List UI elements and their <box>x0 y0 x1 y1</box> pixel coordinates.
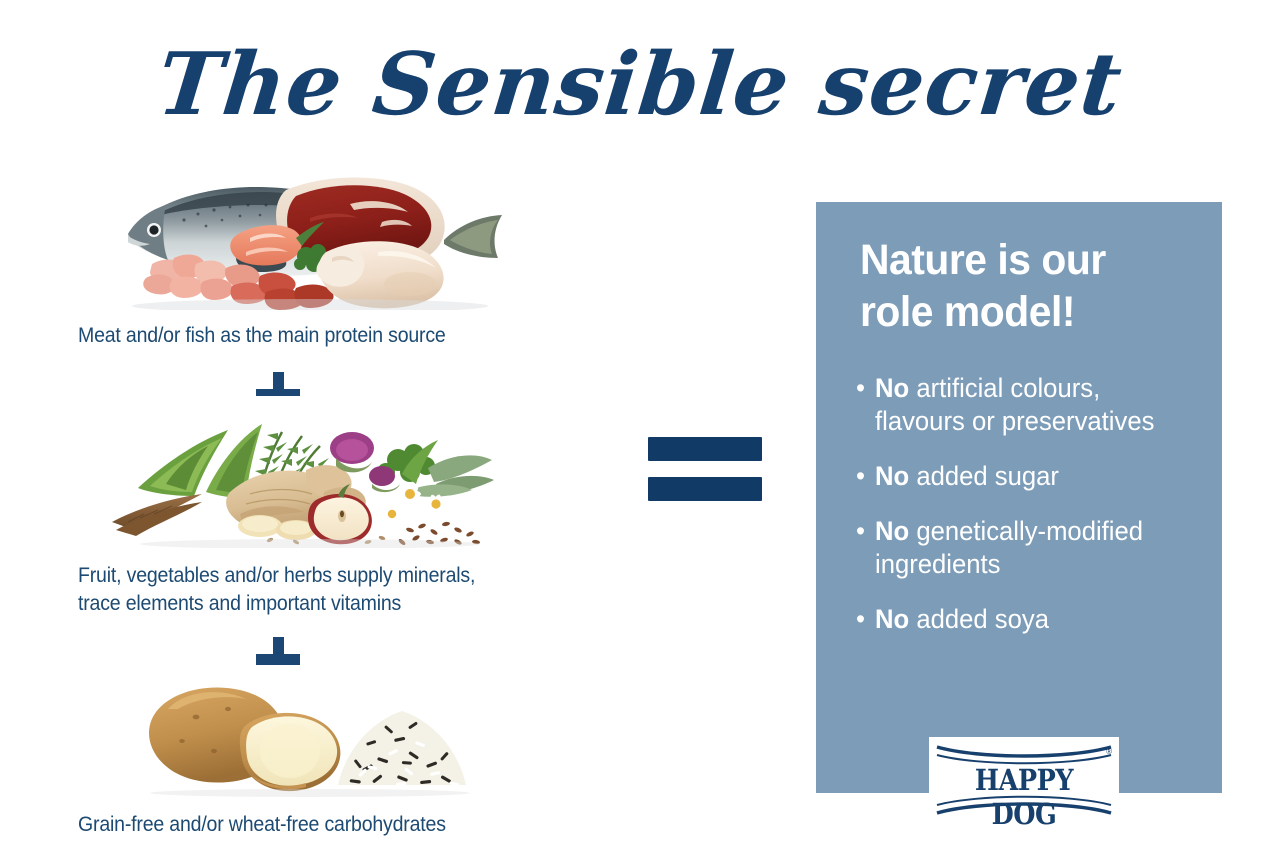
claim-item: •No added soya <box>856 603 1189 636</box>
page-title: The Sensible secret <box>0 34 1280 135</box>
ingredients-column: Meat and/or fish as the main protein sou… <box>0 160 640 853</box>
ingredient-caption-protein: Meat and/or fish as the main protein sou… <box>78 322 601 350</box>
logo-wordmark: HAPPY DOG <box>940 763 1107 831</box>
claim-text: added soya <box>909 604 1049 634</box>
claim-item: •No added sugar <box>856 460 1189 493</box>
equals-bar-top <box>648 437 762 461</box>
claim-emphasis: No <box>875 373 909 403</box>
claim-item: •No artificial colours, flavours or pres… <box>856 372 1189 438</box>
claims-panel: Nature is our role model! •No artificial… <box>816 202 1222 793</box>
meat-and-fish-illustration <box>110 160 530 310</box>
fruit-vegetables-herbs-illustration <box>110 396 530 548</box>
registered-trademark-mark: ® <box>1106 747 1112 756</box>
bullet-dot-icon: • <box>856 515 865 548</box>
potato-and-rice-illustration <box>110 665 530 797</box>
claim-emphasis: No <box>875 461 909 491</box>
claim-text: added sugar <box>909 461 1059 491</box>
fruit-vegetables-herbs-photo <box>110 396 530 548</box>
meat-and-fish-photo <box>110 160 530 310</box>
ingredient-item-plants: Fruit, vegetables and/or herbs supply mi… <box>0 396 640 618</box>
panel-heading: Nature is our role model! <box>860 234 1174 338</box>
ingredient-caption-plants: Fruit, vegetables and/or herbs supply mi… <box>78 562 601 618</box>
potato-and-rice-photo <box>110 665 530 797</box>
bullet-dot-icon: • <box>856 372 865 405</box>
claim-text: genetically-modified ingredients <box>875 516 1143 579</box>
bullet-dot-icon: • <box>856 603 865 636</box>
ingredient-item-protein: Meat and/or fish as the main protein sou… <box>0 160 640 350</box>
claim-emphasis: No <box>875 516 909 546</box>
claim-text: artificial colours, flavours or preserva… <box>875 373 1154 436</box>
happy-dog-logo: HAPPY DOG ® <box>929 737 1119 823</box>
bullet-dot-icon: • <box>856 460 865 493</box>
infographic-root: The Sensible secret <box>0 0 1280 853</box>
equals-bar-bottom <box>648 477 762 501</box>
claim-item: •No genetically-modified ingredients <box>856 515 1189 581</box>
ingredient-caption-carbs: Grain-free and/or wheat-free carbohydrat… <box>78 811 601 839</box>
claims-list: •No artificial colours, flavours or pres… <box>856 372 1206 658</box>
ingredient-item-carbs: Grain-free and/or wheat-free carbohydrat… <box>0 665 640 839</box>
claim-emphasis: No <box>875 604 909 634</box>
